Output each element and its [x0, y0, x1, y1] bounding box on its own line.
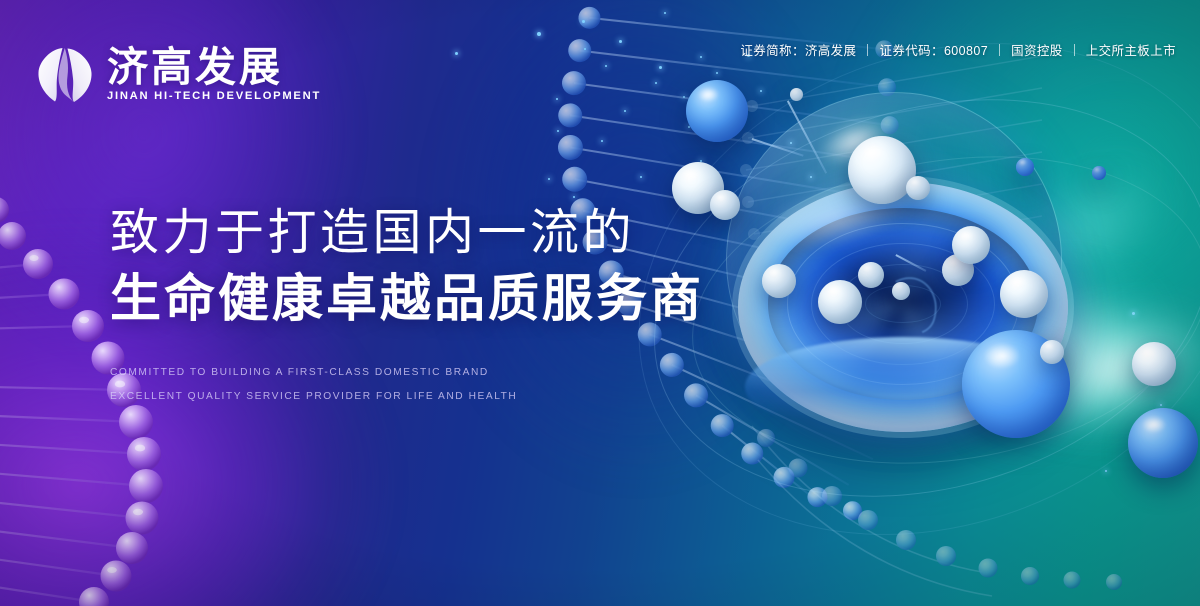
logo-name-en: JINAN HI-TECH DEVELOPMENT [107, 91, 321, 102]
subtitle-block: COMMITTED TO BUILDING A FIRST-CLASS DOME… [110, 368, 517, 416]
company-logo[interactable]: 济高发展 JINAN HI-TECH DEVELOPMENT [36, 45, 321, 105]
info-separator-2 [999, 44, 1000, 56]
headline-block: 致力于打造国内一流的 生命健康卓越品质服务商 [110, 206, 704, 328]
subtitle-line-1: COMMITTED TO BUILDING A FIRST-CLASS DOME… [110, 368, 517, 378]
hero-banner: 证券简称：济高发展 证券代码：600807 国资控股 上交所主板上市 [0, 0, 1200, 606]
headline-line-2: 生命健康卓越品质服务商 [110, 271, 704, 328]
subtitle-line-2: EXCELLENT QUALITY SERVICE PROVIDER FOR L… [110, 392, 517, 402]
listing-board: 上交所主板上市 [1086, 40, 1176, 59]
logo-name-cn: 济高发展 [107, 47, 321, 88]
stock-info-bar: 证券简称：济高发展 证券代码：600807 国资控股 上交所主板上市 [740, 40, 1176, 59]
stock-code: 证券代码：600807 [879, 40, 988, 59]
logo-text-block: 济高发展 JINAN HI-TECH DEVELOPMENT [107, 47, 321, 102]
ownership-tag: 国资控股 [1011, 40, 1063, 59]
jigao-diamond-leaf-mark-icon [36, 45, 94, 105]
info-separator-3 [1074, 44, 1075, 56]
stock-abbr: 证券简称：济高发展 [740, 40, 856, 59]
headline-line-1: 致力于打造国内一流的 [110, 206, 704, 261]
info-separator-1 [867, 44, 868, 56]
